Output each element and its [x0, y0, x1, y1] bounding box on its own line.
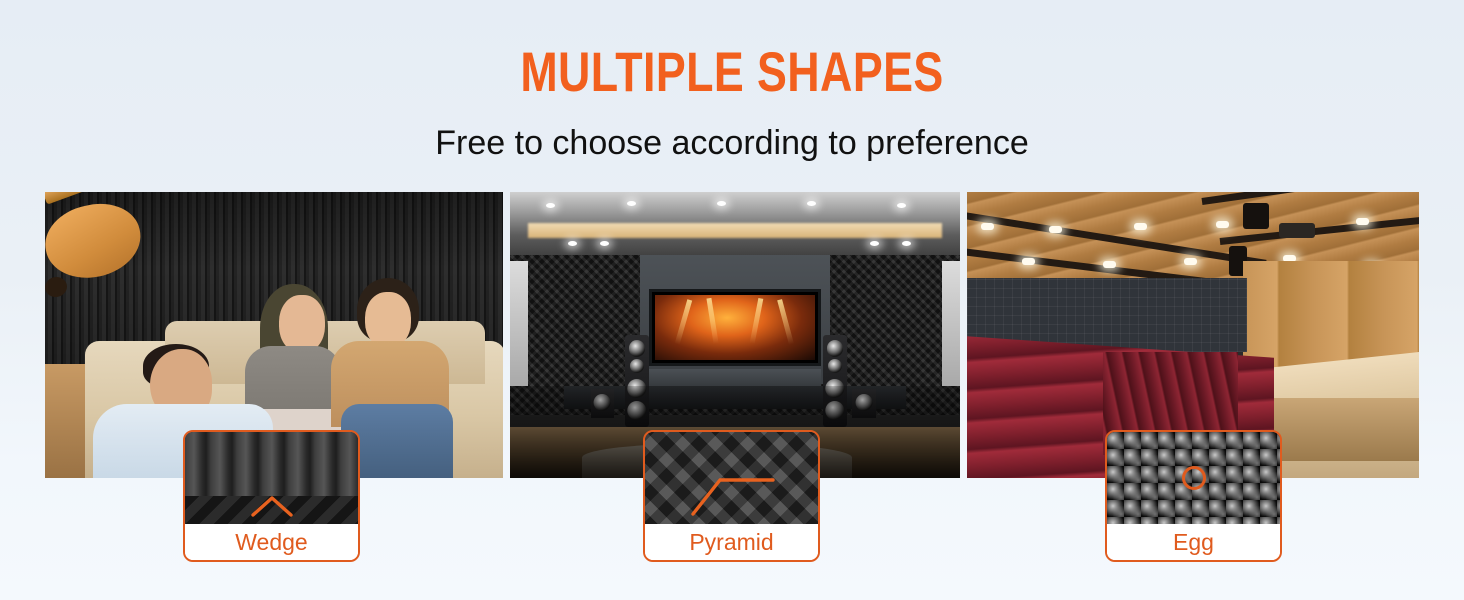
swatch-label-wedge: Wedge [185, 524, 358, 560]
stage-light-beam [777, 299, 794, 344]
side-wall-right [942, 261, 960, 387]
recessed-light [1049, 226, 1062, 233]
shape-swatch-pyramid[interactable]: Pyramid [643, 430, 820, 562]
cove-lighting [528, 223, 943, 237]
hanging-speaker [1243, 203, 1269, 229]
swatch-label-egg: Egg [1107, 524, 1280, 560]
downlight [870, 241, 879, 246]
midrange-driver [828, 359, 842, 373]
chevron-up-icon [251, 495, 293, 517]
midrange-driver [630, 359, 644, 373]
circle-outline-icon [1182, 466, 1206, 490]
downlight [902, 241, 911, 246]
recessed-light [981, 223, 994, 230]
pyramid-foam-sample [645, 432, 818, 524]
television [649, 289, 820, 366]
woman-hijab-face [279, 295, 325, 353]
page-subtitle: Free to choose according to preference [0, 126, 1464, 160]
recessed-light [1356, 218, 1369, 225]
downlight [627, 201, 636, 206]
recessed-light [1103, 261, 1116, 268]
egg-foam-sample [1107, 432, 1280, 524]
side-wall-left [510, 261, 528, 387]
downlight [600, 241, 609, 246]
banner-header: MULTIPLE SHAPES Free to choose according… [0, 0, 1464, 160]
stage-light-beam [750, 298, 764, 344]
downlight [717, 201, 726, 206]
shape-swatch-wedge[interactable]: Wedge [183, 430, 360, 562]
downlight [807, 201, 816, 206]
angle-outline-icon [690, 471, 776, 517]
recessed-light [1184, 258, 1197, 265]
stage-light-beam [675, 299, 692, 344]
recessed-light [1216, 221, 1229, 228]
shape-swatch-egg[interactable]: Egg [1105, 430, 1282, 562]
guitarist-face [365, 292, 411, 348]
wedge-foam-sample [185, 432, 358, 524]
stage-light-beam [706, 298, 718, 344]
downlight [568, 241, 577, 246]
recessed-light [1134, 223, 1147, 230]
tweeter [827, 340, 843, 356]
concert-footage [655, 295, 814, 360]
tweeter [629, 340, 645, 356]
recessed-light [1022, 258, 1035, 265]
page-title: MULTIPLE SHAPES [146, 44, 1317, 100]
ceiling-projector [1279, 223, 1315, 238]
swatch-label-pyramid: Pyramid [645, 524, 818, 560]
